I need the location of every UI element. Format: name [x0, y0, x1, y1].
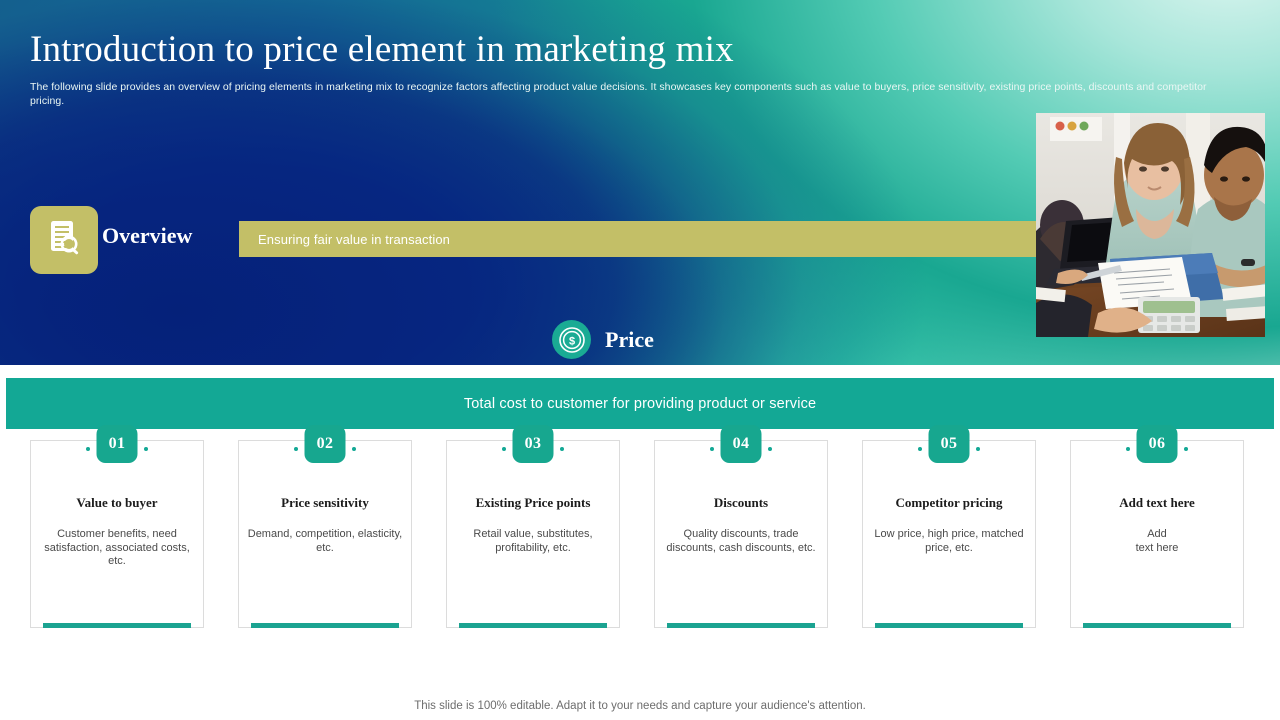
- card-description: Customer benefits, need satisfaction, as…: [39, 528, 195, 569]
- page-subtitle: The following slide provides an overview…: [30, 81, 1228, 108]
- card-item[interactable]: 03 Existing Price points Retail value, s…: [446, 425, 620, 630]
- connector-dot-right: [768, 447, 772, 451]
- page-title: Introduction to price element in marketi…: [30, 28, 734, 71]
- card-number: 05: [941, 435, 958, 453]
- price-label: Price: [605, 327, 654, 353]
- card-title: Value to buyer: [37, 495, 197, 511]
- card-item[interactable]: 01 Value to buyer Customer benefits, nee…: [30, 425, 204, 630]
- card-item[interactable]: 06 Add text here Add text here: [1070, 425, 1244, 630]
- connector-dot-right: [560, 447, 564, 451]
- card-number-badge: 04: [721, 425, 762, 463]
- overview-icon-box: [30, 206, 98, 274]
- card-description: Low price, high price, matched price, et…: [871, 528, 1027, 555]
- card-item[interactable]: 05 Competitor pricing Low price, high pr…: [862, 425, 1036, 630]
- card-title: Discounts: [661, 495, 821, 511]
- connector-dot-left: [86, 447, 90, 451]
- overview-bar: Ensuring fair value in transaction: [239, 221, 1036, 257]
- svg-text:$: $: [568, 335, 574, 347]
- card-title: Add text here: [1077, 495, 1237, 511]
- card-accent-bar: [43, 623, 191, 628]
- card-number: 01: [109, 435, 126, 453]
- card-item[interactable]: 04 Discounts Quality discounts, trade di…: [654, 425, 828, 630]
- card-number: 02: [317, 435, 334, 453]
- overview-label: Overview: [102, 223, 192, 249]
- connector-dot-right: [1184, 447, 1188, 451]
- connector-dot-right: [144, 447, 148, 451]
- price-factor-cards: 01 Value to buyer Customer benefits, nee…: [30, 425, 1250, 630]
- card-title: Existing Price points: [453, 495, 613, 511]
- card-accent-bar: [251, 623, 399, 628]
- card-title: Competitor pricing: [869, 495, 1029, 511]
- slide-root: Introduction to price element in marketi…: [0, 0, 1280, 720]
- card-description: Retail value, substitutes, profitability…: [455, 528, 611, 555]
- card-description: Add text here: [1079, 528, 1235, 555]
- connector-dot-left: [918, 447, 922, 451]
- card-accent-bar: [459, 623, 607, 628]
- card-item[interactable]: 02 Price sensitivity Demand, competition…: [238, 425, 412, 630]
- document-search-icon: [46, 219, 82, 262]
- card-number-badge: 01: [97, 425, 138, 463]
- connector-dot-left: [1126, 447, 1130, 451]
- connector-dot-left: [710, 447, 714, 451]
- banner-text: Total cost to customer for providing pro…: [464, 396, 816, 412]
- dollar-coin-icon: $: [552, 320, 591, 359]
- total-cost-banner: Total cost to customer for providing pro…: [6, 378, 1274, 429]
- card-number-badge: 06: [1137, 425, 1178, 463]
- card-description: Demand, competition, elasticity, etc.: [247, 528, 403, 555]
- card-number-badge: 03: [513, 425, 554, 463]
- connector-dot-right: [352, 447, 356, 451]
- connector-dot-left: [294, 447, 298, 451]
- card-number: 03: [525, 435, 542, 453]
- card-number-badge: 05: [929, 425, 970, 463]
- card-description: Quality discounts, trade discounts, cash…: [663, 528, 819, 555]
- card-number: 04: [733, 435, 750, 453]
- price-badge: $ Price: [552, 320, 654, 359]
- card-accent-bar: [667, 623, 815, 628]
- connector-dot-right: [976, 447, 980, 451]
- card-accent-bar: [1083, 623, 1231, 628]
- card-title: Price sensitivity: [245, 495, 405, 511]
- card-accent-bar: [875, 623, 1023, 628]
- card-number-badge: 02: [305, 425, 346, 463]
- connector-dot-left: [502, 447, 506, 451]
- overview-bar-text: Ensuring fair value in transaction: [258, 232, 450, 247]
- card-number: 06: [1149, 435, 1166, 453]
- footer-note: This slide is 100% editable. Adapt it to…: [0, 700, 1280, 712]
- meeting-photo: [1036, 113, 1265, 337]
